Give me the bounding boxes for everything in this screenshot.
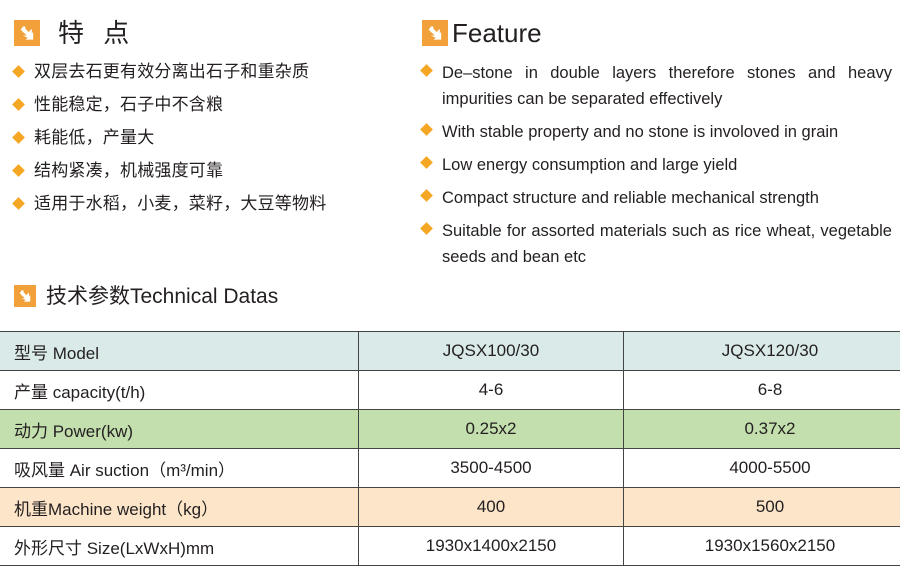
list-item-label: 双层去石更有效分离出石子和重杂质: [34, 60, 414, 83]
table-cell-value: 400: [359, 488, 624, 527]
features-english-section: Feature De–stone in double layers theref…: [422, 20, 892, 277]
table-row: 吸风量 Air suction（m³/min） 3500-4500 4000-5…: [0, 449, 900, 488]
table-cell-label: 吸风量 Air suction（m³/min）: [0, 449, 359, 488]
table-cell-label: 产量 capacity(t/h): [0, 371, 359, 410]
arrow-down-right-icon: [14, 20, 40, 46]
table-row: 机重Machine weight（kg） 400 500: [0, 488, 900, 527]
table-cell-value: 3500-4500: [359, 449, 624, 488]
table-header-cell: JQSX100/30: [359, 332, 624, 371]
list-item-label: 性能稳定，石子中不含粮: [34, 93, 414, 116]
table-cell-value: 0.25x2: [359, 410, 624, 449]
table-cell-value: 500: [624, 488, 900, 527]
table-cell-value: 4-6: [359, 371, 624, 410]
features-english-header: Feature: [422, 20, 892, 46]
table-cell-value: 6-8: [624, 371, 900, 410]
table-cell-label: 动力 Power(kw): [0, 410, 359, 449]
list-item-label: Low energy consumption and large yield: [442, 152, 892, 178]
features-chinese-list: 双层去石更有效分离出石子和重杂质 性能稳定，石子中不含粮 耗能低，产量大 结构紧…: [14, 60, 414, 215]
diamond-bullet-icon: [420, 64, 433, 77]
list-item: Suitable for assorted materials such as …: [422, 218, 892, 270]
diamond-bullet-icon: [420, 222, 433, 235]
diamond-bullet-icon: [12, 197, 25, 210]
list-item: With stable property and no stone is inv…: [422, 119, 892, 145]
list-item-label: 耗能低，产量大: [34, 126, 414, 149]
list-item: 耗能低，产量大: [14, 126, 414, 149]
diamond-bullet-icon: [12, 131, 25, 144]
list-item: Low energy consumption and large yield: [422, 152, 892, 178]
diamond-bullet-icon: [12, 98, 25, 111]
list-item: 结构紧凑，机械强度可靠: [14, 159, 414, 182]
features-english-title: Feature: [452, 20, 542, 46]
list-item: De–stone in double layers therefore ston…: [422, 60, 892, 112]
list-item: 双层去石更有效分离出石子和重杂质: [14, 60, 414, 83]
table-cell-value: 0.37x2: [624, 410, 900, 449]
diamond-bullet-icon: [12, 65, 25, 78]
features-english-list: De–stone in double layers therefore ston…: [422, 60, 892, 270]
table-header-cell: 型号 Model: [0, 332, 359, 371]
list-item-label: 结构紧凑，机械强度可靠: [34, 159, 414, 182]
table-header-cell: JQSX120/30: [624, 332, 900, 371]
diamond-bullet-icon: [420, 123, 433, 136]
features-chinese-section: 特 点 双层去石更有效分离出石子和重杂质 性能稳定，石子中不含粮 耗能低，产量大…: [14, 20, 414, 225]
specifications-table: 型号 Model JQSX100/30 JQSX120/30 产量 capaci…: [0, 331, 900, 566]
table-header-row: 型号 Model JQSX100/30 JQSX120/30: [0, 332, 900, 371]
table-row: 外形尺寸 Size(LxWxH)mm 1930x1400x2150 1930x1…: [0, 527, 900, 566]
technical-datas-title: 技术参数Technical Datas: [46, 286, 278, 307]
table-cell-label: 外形尺寸 Size(LxWxH)mm: [0, 527, 359, 566]
list-item-label: De–stone in double layers therefore ston…: [442, 60, 892, 112]
arrow-down-right-icon: [14, 285, 36, 307]
list-item: Compact structure and reliable mechanica…: [422, 185, 892, 211]
list-item-label: Compact structure and reliable mechanica…: [442, 185, 892, 211]
table-cell-label: 机重Machine weight（kg）: [0, 488, 359, 527]
table-cell-value: 1930x1560x2150: [624, 527, 900, 566]
diamond-bullet-icon: [12, 164, 25, 177]
list-item-label: 适用于水稻，小麦，菜籽，大豆等物料: [34, 192, 414, 215]
table-cell-value: 1930x1400x2150: [359, 527, 624, 566]
list-item: 性能稳定，石子中不含粮: [14, 93, 414, 116]
features-chinese-header: 特 点: [14, 20, 414, 46]
list-item-label: With stable property and no stone is inv…: [442, 119, 892, 145]
table-row: 产量 capacity(t/h) 4-6 6-8: [0, 371, 900, 410]
technical-datas-header: 技术参数Technical Datas: [14, 285, 278, 307]
list-item: 适用于水稻，小麦，菜籽，大豆等物料: [14, 192, 414, 215]
diamond-bullet-icon: [420, 156, 433, 169]
table-row: 动力 Power(kw) 0.25x2 0.37x2: [0, 410, 900, 449]
features-chinese-title: 特 点: [58, 20, 135, 46]
arrow-down-right-icon: [422, 20, 448, 46]
table-cell-value: 4000-5500: [624, 449, 900, 488]
diamond-bullet-icon: [420, 189, 433, 202]
list-item-label: Suitable for assorted materials such as …: [442, 218, 892, 270]
